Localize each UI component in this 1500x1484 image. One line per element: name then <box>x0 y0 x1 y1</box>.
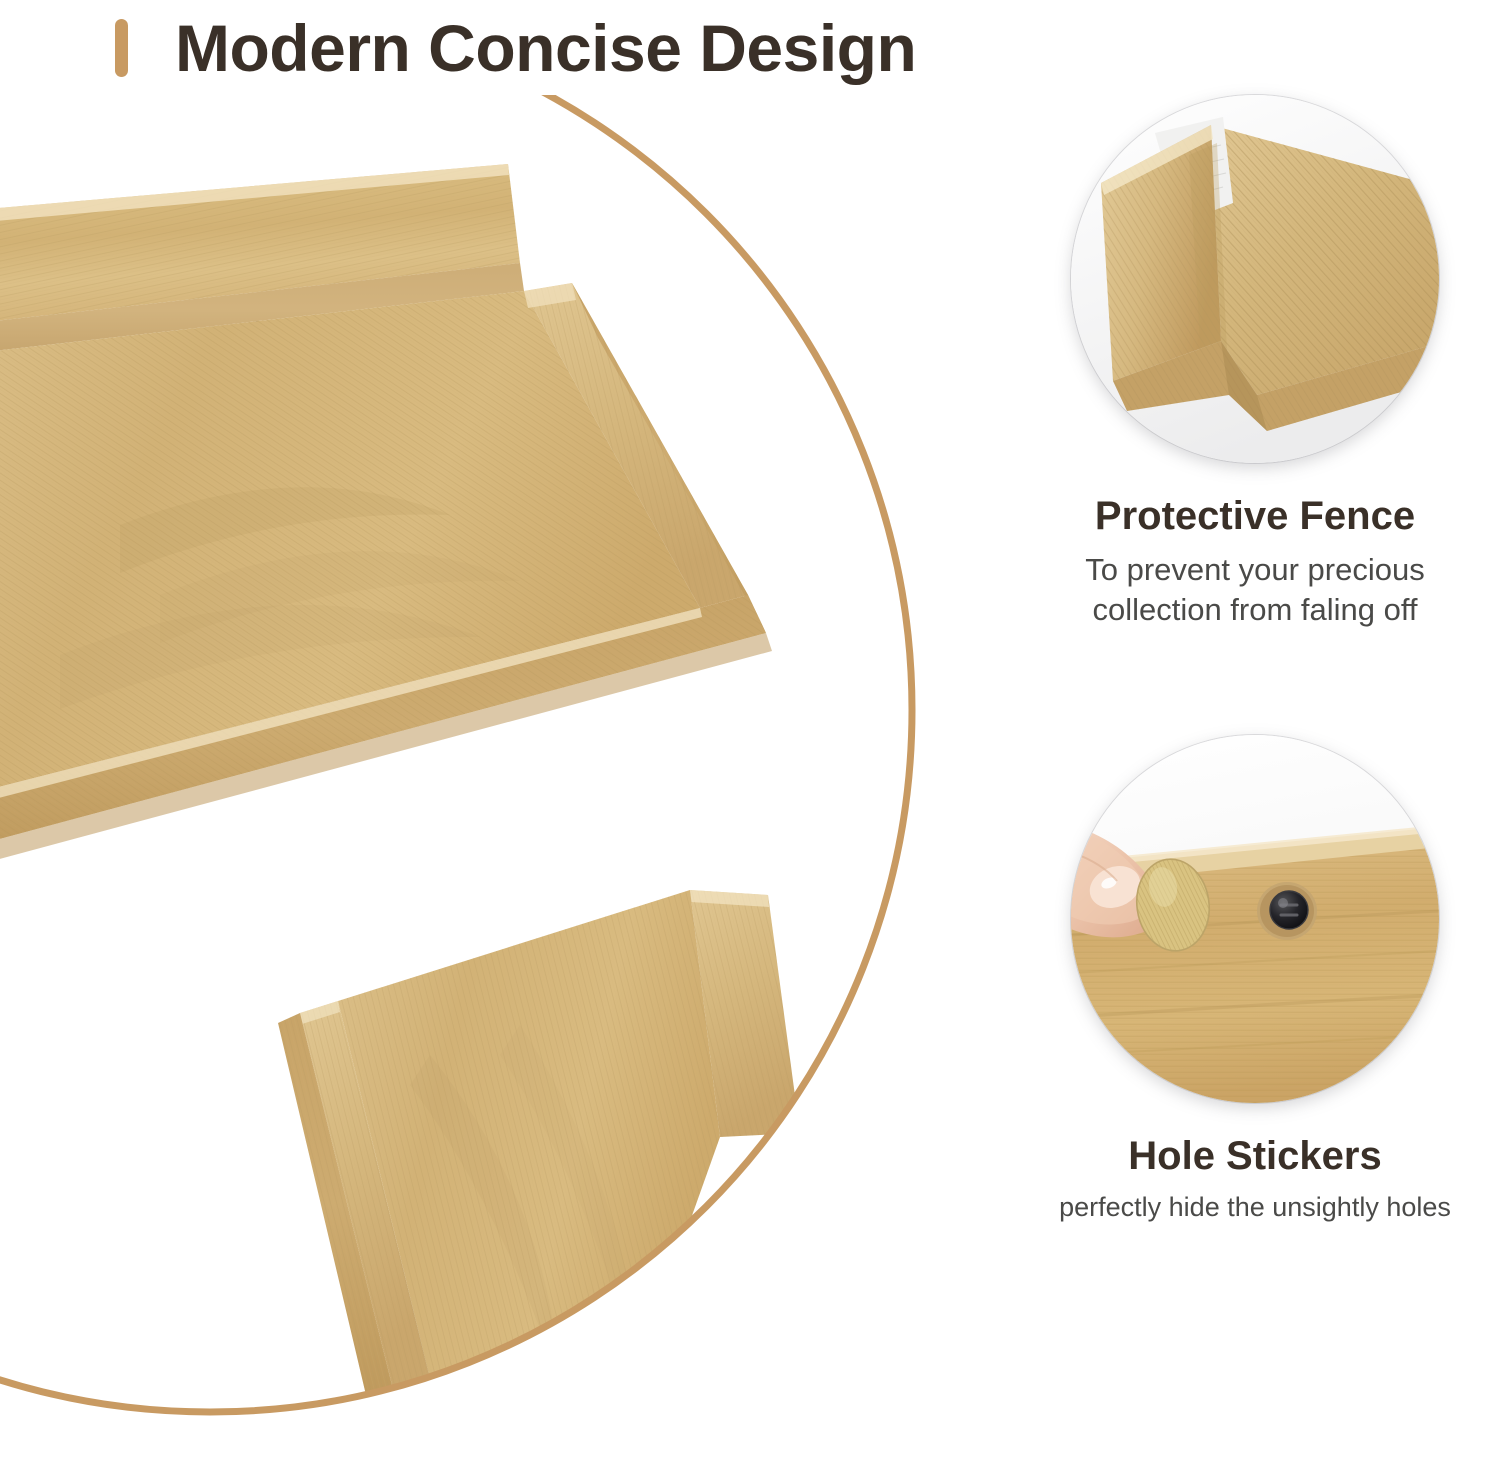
hero-product-image <box>0 95 1010 1484</box>
hero-illustration <box>0 95 1010 1484</box>
feature-subtitle-line: To prevent your precious <box>1085 550 1424 590</box>
screw-hole-icon <box>1257 882 1317 940</box>
page-header: Modern Concise Design <box>0 0 1500 95</box>
hole-stickers-photo <box>1071 735 1439 1103</box>
feature-heading: Hole Stickers <box>1128 1135 1381 1178</box>
feature-hole-stickers: Hole Stickers perfectly hide the unsight… <box>1010 735 1500 1225</box>
feature-protective-fence: Protective Fence To prevent your preciou… <box>1010 95 1500 631</box>
feature-subtitle: To prevent your precious collection from… <box>1085 550 1424 631</box>
feature-subtitle: perfectly hide the unsightly holes <box>1059 1190 1451 1225</box>
accent-bar-icon <box>115 19 128 77</box>
protective-fence-photo <box>1071 95 1439 463</box>
page-title: Modern Concise Design <box>175 15 916 81</box>
feature-subtitle-line: collection from faling off <box>1085 590 1424 630</box>
feature-subtitle-line: perfectly hide the unsightly holes <box>1059 1190 1451 1225</box>
feature-heading: Protective Fence <box>1095 495 1415 538</box>
